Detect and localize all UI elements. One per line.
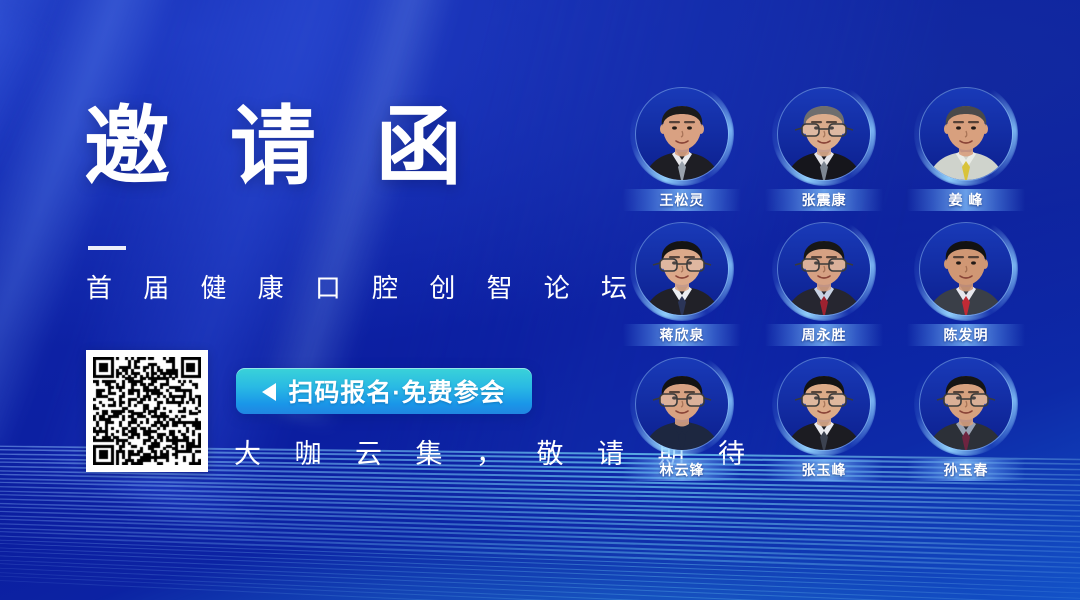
speaker-name: 张震康 xyxy=(802,190,847,210)
avatar-ring xyxy=(778,88,870,180)
avatar xyxy=(636,88,728,180)
speaker-name: 姜 峰 xyxy=(949,190,984,210)
avatar-ring xyxy=(778,358,870,450)
speaker-name: 孙玉春 xyxy=(944,460,989,480)
speaker-card[interactable]: 周永胜 xyxy=(756,221,892,350)
qr-code-canvas xyxy=(93,357,201,465)
speaker-nameplate: 陈发明 xyxy=(907,324,1025,346)
avatar xyxy=(778,88,870,180)
speaker-nameplate: 张震康 xyxy=(765,189,883,211)
speaker-card[interactable]: 蒋欣泉 xyxy=(614,221,750,350)
speaker-nameplate: 王松灵 xyxy=(623,189,741,211)
speaker-name: 周永胜 xyxy=(802,325,847,345)
speaker-nameplate: 姜 峰 xyxy=(907,189,1025,211)
light-streak-icon xyxy=(0,0,63,454)
speaker-nameplate: 林云锋 xyxy=(623,459,741,481)
avatar-ring xyxy=(920,358,1012,450)
speaker-card[interactable]: 姜 峰 xyxy=(898,86,1034,215)
speaker-name: 王松灵 xyxy=(660,190,705,210)
page-subtitle: 首 届 健 康 口 腔 创 智 论 坛 xyxy=(86,268,639,305)
speaker-grid: 王松灵 xyxy=(614,86,1034,485)
speaker-nameplate: 蒋欣泉 xyxy=(623,324,741,346)
speaker-card[interactable]: 王松灵 xyxy=(614,86,750,215)
speaker-card[interactable]: 孙玉春 xyxy=(898,356,1034,485)
speaker-name: 蒋欣泉 xyxy=(660,325,705,345)
avatar-ring xyxy=(920,88,1012,180)
speaker-card[interactable]: 张震康 xyxy=(756,86,892,215)
light-streak-icon xyxy=(0,0,97,416)
avatar-ring xyxy=(920,223,1012,315)
avatar xyxy=(636,358,728,450)
light-streak-icon xyxy=(248,0,516,429)
speaker-name: 张玉峰 xyxy=(802,460,847,480)
speaker-nameplate: 周永胜 xyxy=(765,324,883,346)
speaker-name: 林云锋 xyxy=(660,460,705,480)
avatar-ring xyxy=(636,88,728,180)
avatar xyxy=(920,358,1012,450)
speaker-card[interactable]: 林云锋 xyxy=(614,356,750,485)
qr-code[interactable] xyxy=(86,350,208,472)
avatar xyxy=(920,223,1012,315)
speaker-card[interactable]: 张玉峰 xyxy=(756,356,892,485)
avatar xyxy=(636,223,728,315)
title-divider xyxy=(88,246,126,250)
page-title: 邀 请 函 xyxy=(84,104,480,190)
avatar xyxy=(778,223,870,315)
avatar-ring xyxy=(636,358,728,450)
avatar-ring xyxy=(636,223,728,315)
triangle-left-icon xyxy=(262,383,276,401)
speaker-name: 陈发明 xyxy=(944,325,989,345)
register-button[interactable]: 扫码报名·免费参会 xyxy=(236,368,532,414)
invitation-poster: 邀 请 函 首 届 健 康 口 腔 创 智 论 坛 扫码报名·免费参会 大 咖 … xyxy=(0,0,1080,600)
speaker-nameplate: 张玉峰 xyxy=(765,459,883,481)
speaker-nameplate: 孙玉春 xyxy=(907,459,1025,481)
avatar xyxy=(778,358,870,450)
speaker-card[interactable]: 陈发明 xyxy=(898,221,1034,350)
register-button-label: 扫码报名·免费参会 xyxy=(288,373,505,409)
avatar-ring xyxy=(778,223,870,315)
avatar xyxy=(920,88,1012,180)
